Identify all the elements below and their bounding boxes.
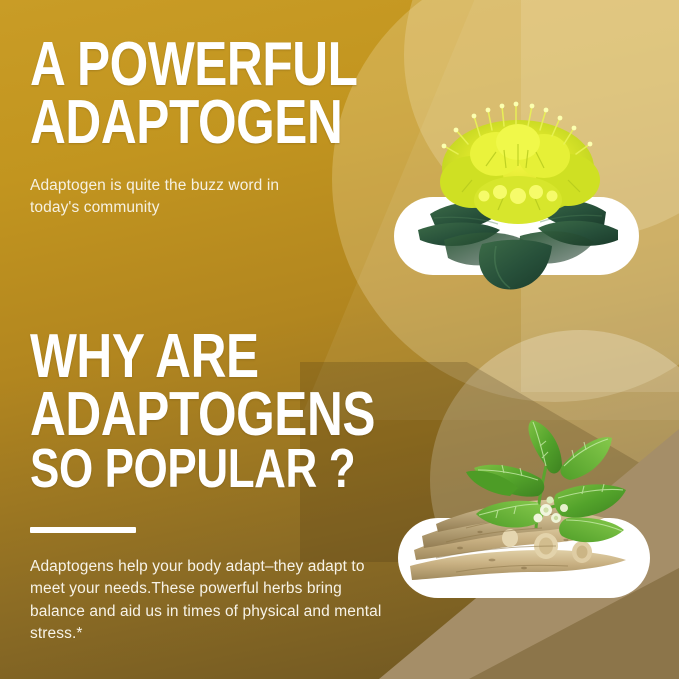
ashwagandha-root-image [396,418,658,608]
headline-secondary-line-1: WHY ARE [30,328,375,386]
rhodiola-rosea-flower-image [400,96,640,296]
headline-primary: A POWERFUL ADAPTOGEN [30,36,358,151]
product-infographic-poster: A POWERFUL ADAPTOGEN Adaptogen is quite … [0,0,679,679]
section-divider [30,527,136,533]
subtitle-text: Adaptogen is quite the buzz word in toda… [30,175,330,219]
headline-primary-line-2: ADAPTOGEN [30,94,358,152]
headline-secondary: WHY ARE ADAPTOGENS SO POPULAR ? [30,328,375,494]
body-paragraph: Adaptogens help your body adapt–they ada… [30,556,382,646]
headline-secondary-line-2: ADAPTOGENS [30,386,375,444]
headline-secondary-line-3: SO POPULAR ? [30,443,375,494]
